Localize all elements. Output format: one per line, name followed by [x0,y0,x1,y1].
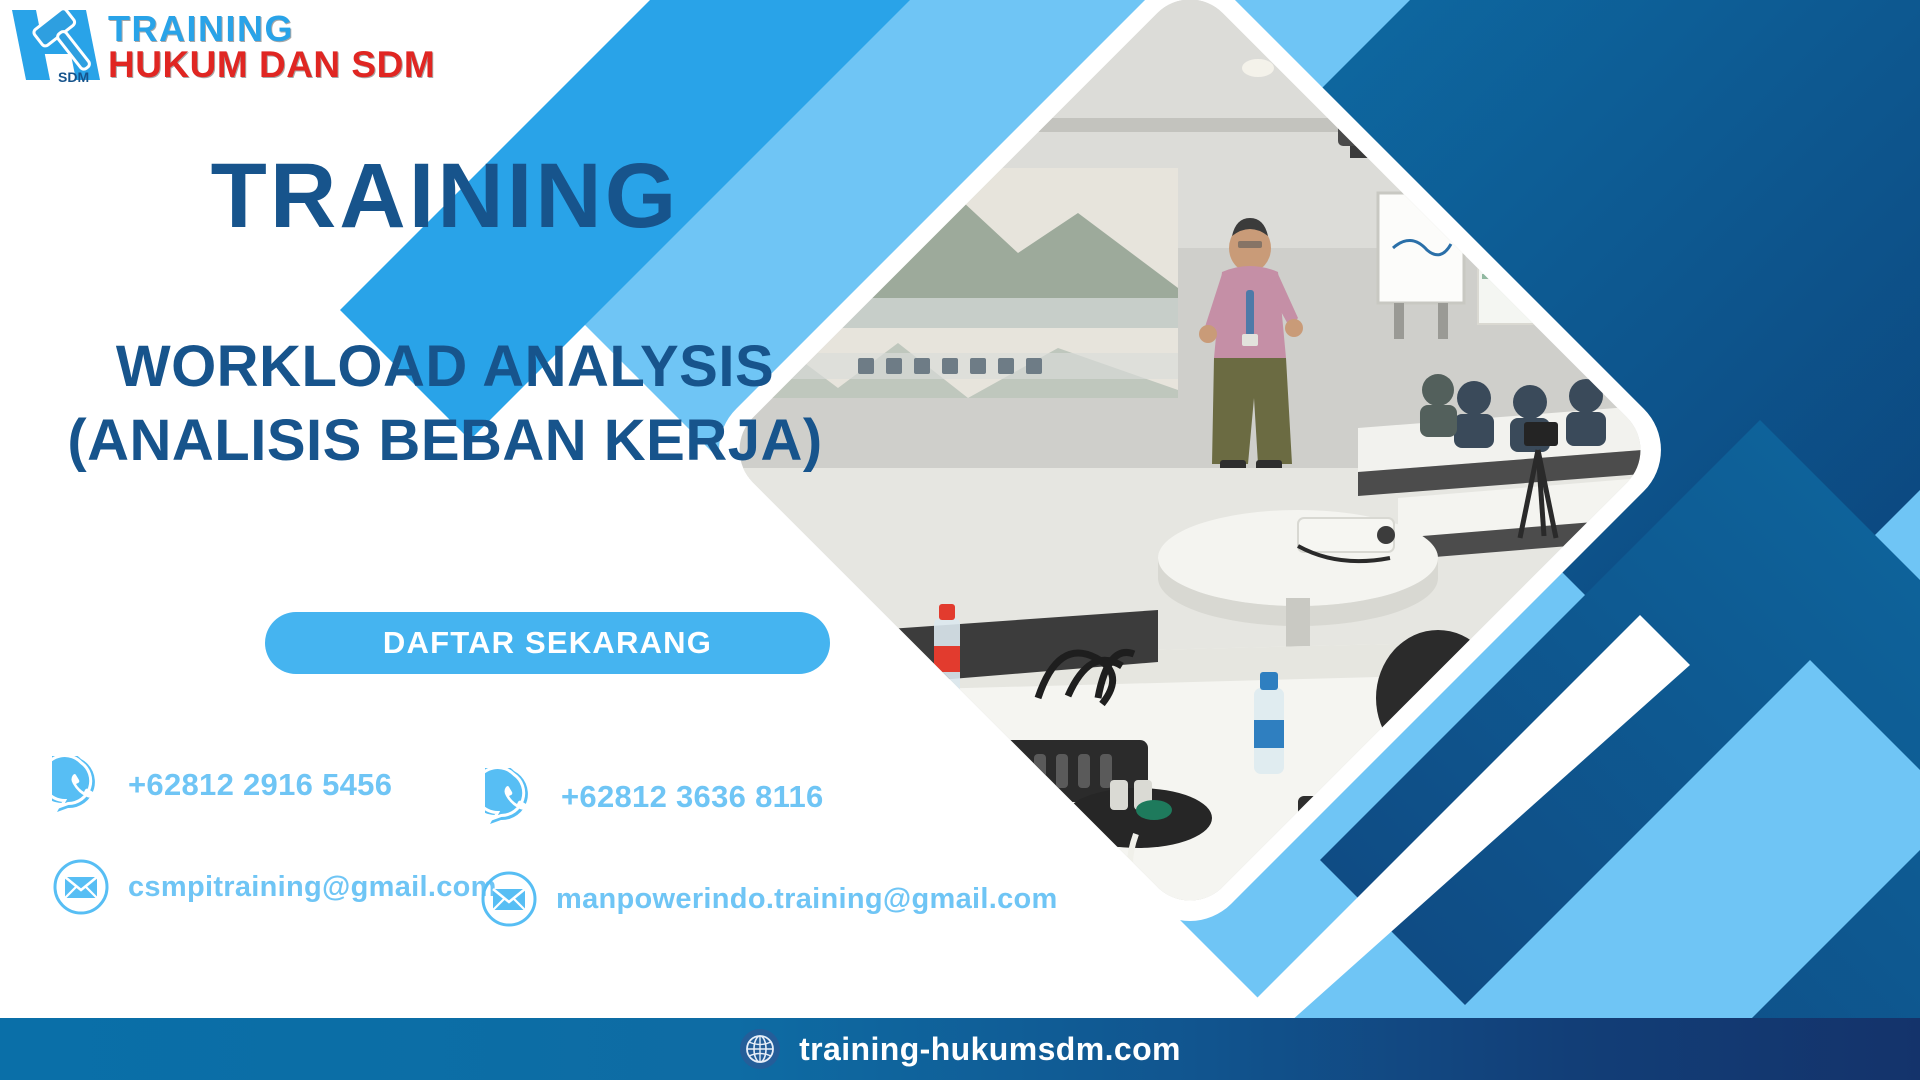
whatsapp-icon [485,768,543,826]
website-url[interactable]: training-hukumsdm.com [799,1031,1181,1068]
whatsapp-number-1: +62812 2916 5456 [128,767,392,803]
contact-row-emails: csmpitraining@gmail.com manpowerindo.tra… [0,858,1040,976]
whatsapp-number-2: +62812 3636 8116 [561,779,824,815]
register-now-label: DAFTAR SEKARANG [383,625,712,661]
brand-logo[interactable]: SDM TRAINING HUKUM DAN SDM [10,4,435,86]
course-subtitle: WORKLOAD ANALYSIS (ANALISIS BEBAN KERJA) [0,330,890,478]
logo-line-hukum-sdm: HUKUM DAN SDM [108,46,435,83]
subtitle-line-id: (ANALISIS BEBAN KERJA) [0,404,890,478]
envelope-icon [480,870,538,928]
logo-wordmark: TRAINING HUKUM DAN SDM [108,4,435,83]
svg-text:UND: UND [1484,214,1525,235]
register-now-button[interactable]: DAFTAR SEKARANG [265,612,830,674]
contact-email-2[interactable]: manpowerindo.training@gmail.com [480,870,1058,928]
logo-badge-text: SDM [58,69,89,85]
email-address-2: manpowerindo.training@gmail.com [556,883,1058,916]
footer-bar: training-hukumsdm.com [0,1018,1920,1080]
svg-text:KA: KA [1484,248,1512,269]
page-title: TRAINING [0,150,890,242]
whatsapp-icon [52,756,110,814]
contact-whatsapp-2[interactable]: +62812 3636 8116 [485,768,824,826]
gavel-logo-icon: SDM [10,4,102,86]
contact-whatsapp-1[interactable]: +62812 2916 5456 [52,756,392,814]
email-address-1: csmpitraining@gmail.com [128,871,497,904]
contact-email-1[interactable]: csmpitraining@gmail.com [52,858,497,916]
contact-block: +62812 2916 5456 +62812 3636 8116 [0,740,1040,976]
contact-row-phones: +62812 2916 5456 +62812 3636 8116 [0,740,1040,858]
logo-line-training: TRAINING [108,12,435,46]
globe-icon [739,1028,781,1070]
subtitle-line-en: WORKLOAD ANALYSIS [0,330,890,404]
envelope-icon [52,858,110,916]
